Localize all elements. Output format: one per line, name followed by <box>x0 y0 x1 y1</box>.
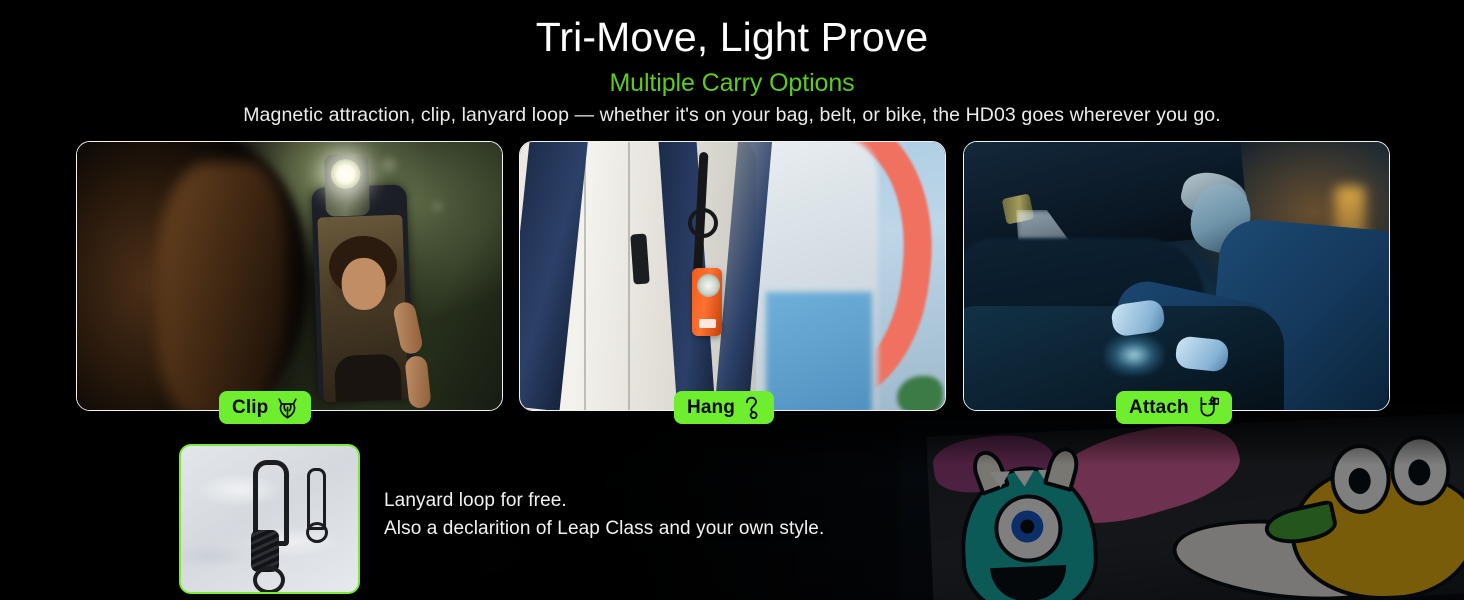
badge-attach[interactable]: Attach <box>1116 391 1232 424</box>
feature-card-row <box>0 141 1464 411</box>
badge-hang[interactable]: Hang <box>674 391 774 424</box>
attach-scene-image <box>964 142 1389 410</box>
badge-attach-label: Attach <box>1129 397 1189 419</box>
lanyard-product-image <box>179 444 360 594</box>
page-title: Tri-Move, Light Prove <box>0 12 1464 62</box>
badge-hang-label: Hang <box>687 397 735 419</box>
banner-header: Tri-Move, Light Prove Multiple Carry Opt… <box>0 0 1464 128</box>
yellow-creature-mural-icon <box>1267 433 1464 600</box>
badge-clip-label: Clip <box>232 397 268 419</box>
badge-clip[interactable]: Clip <box>219 391 311 424</box>
feature-card-clip[interactable] <box>76 141 503 411</box>
lanyard-caption: Lanyard loop for free. Also a declaritio… <box>384 487 824 543</box>
clip-icon <box>277 397 298 419</box>
graffiti-mural <box>926 413 1464 600</box>
page-description: Magnetic attraction, clip, lanyard loop … <box>0 102 1464 128</box>
clip-scene-image <box>77 142 502 410</box>
lanyard-caption-line-1: Lanyard loop for free. <box>384 487 824 515</box>
lanyard-caption-line-2: Also a declarition of Leap Class and you… <box>384 515 824 543</box>
hang-scene-image <box>520 142 945 410</box>
feature-card-hang[interactable] <box>519 141 946 411</box>
page-subtitle: Multiple Carry Options <box>0 68 1464 98</box>
magnet-icon <box>1198 396 1219 419</box>
feature-card-attach[interactable] <box>963 141 1390 411</box>
hd03-light-orange <box>692 268 722 336</box>
hook-icon <box>744 396 761 419</box>
promo-banner: Tri-Move, Light Prove Multiple Carry Opt… <box>0 0 1464 600</box>
